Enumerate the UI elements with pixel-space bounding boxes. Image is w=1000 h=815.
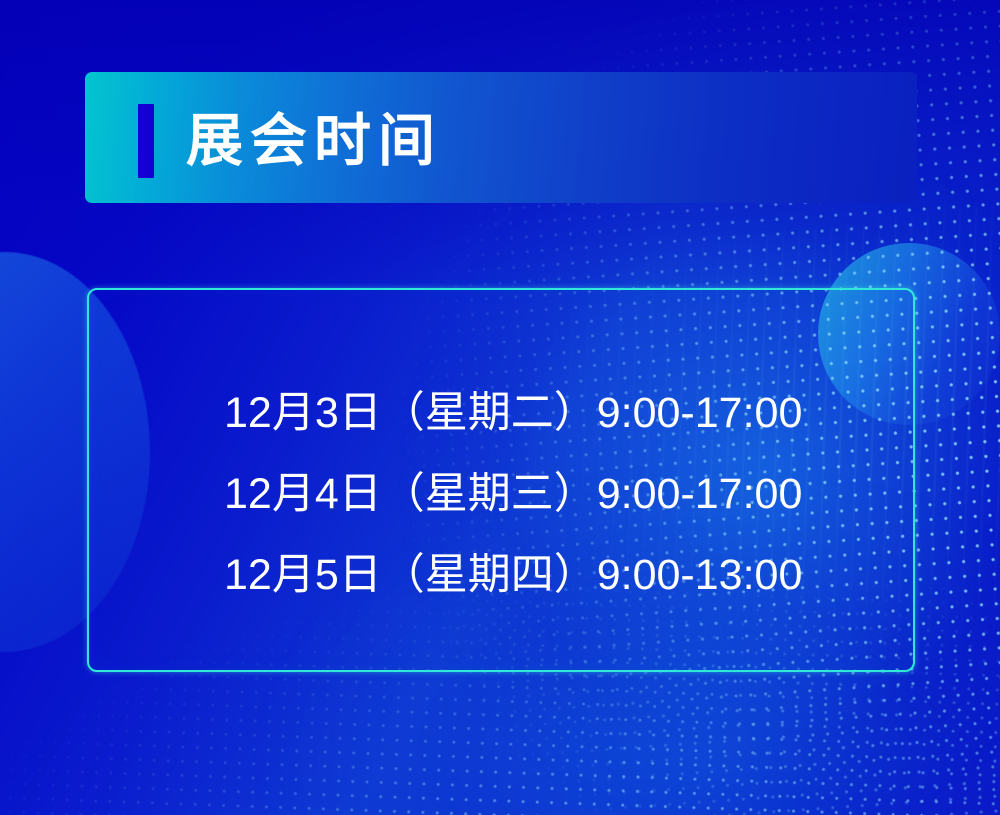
page-title: 展会时间 <box>186 100 442 182</box>
schedule-list: 12月3日（星期二）9:00-17:00 12月4日（星期三）9:00-17:0… <box>224 373 844 616</box>
schedule-line: 12月4日（星期三）9:00-17:00 <box>224 454 844 535</box>
exhibition-time-poster: 展会时间 12月3日（星期二）9:00-17:00 12月4日（星期三）9:00… <box>0 0 1000 815</box>
schedule-line: 12月3日（星期二）9:00-17:00 <box>224 373 844 454</box>
schedule-line: 12月5日（星期四）9:00-13:00 <box>224 535 844 616</box>
title-accent-bar <box>138 104 154 178</box>
